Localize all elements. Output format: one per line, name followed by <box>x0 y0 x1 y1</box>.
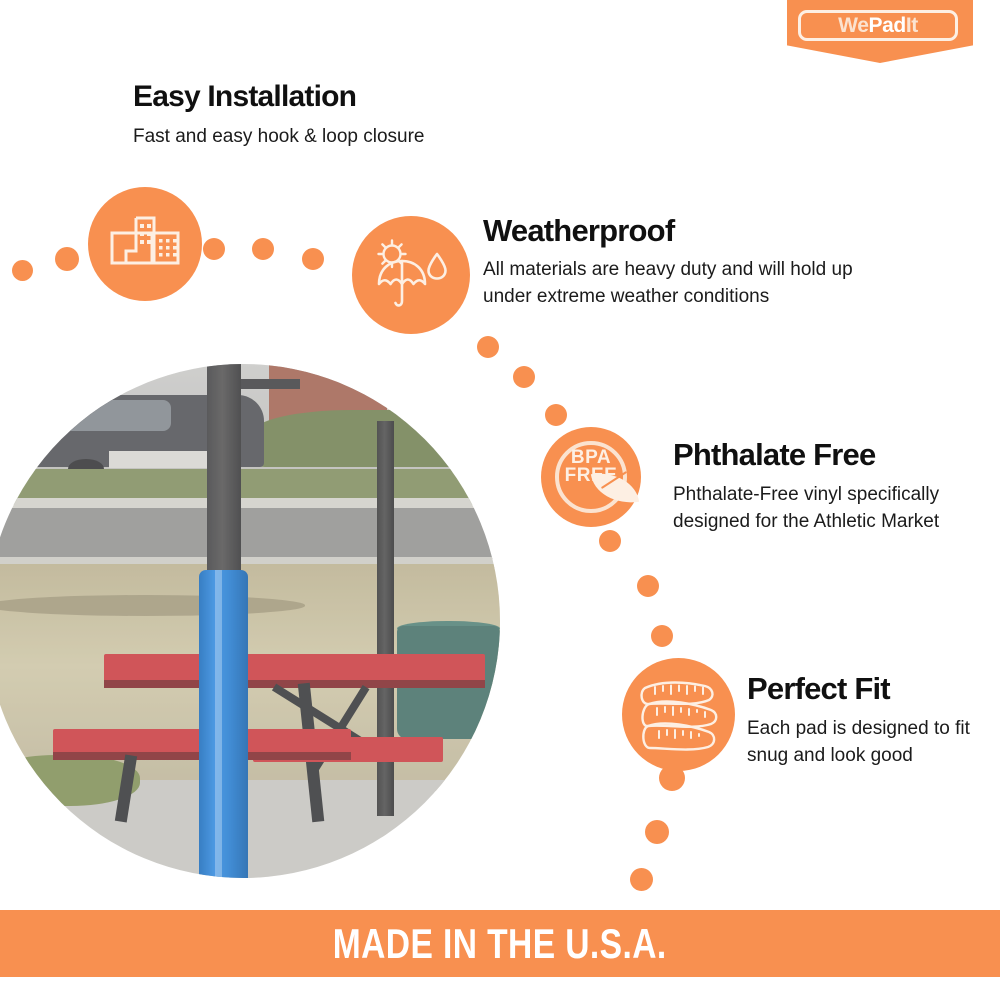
path-dot <box>513 366 535 388</box>
brand-logo-frame: WePadIt <box>798 10 958 41</box>
brand-logo-we: We <box>838 14 868 37</box>
section-body-phthalate-free: Phthalate-Free vinyl specifically design… <box>673 482 943 536</box>
made-in-usa-banner: MADE IN THE U.S.A. <box>0 910 1000 977</box>
path-dot <box>252 238 274 260</box>
path-dot <box>630 868 653 891</box>
path-dot <box>55 247 79 271</box>
path-dot <box>599 530 621 552</box>
path-dot <box>637 575 659 597</box>
path-dot <box>477 336 499 358</box>
brand-logo-text: WePadIt <box>838 15 918 36</box>
building-installation-icon <box>109 215 181 273</box>
icon-perfect-fit <box>622 658 735 771</box>
section-title-weatherproof: Weatherproof <box>483 214 674 248</box>
umbrella-sun-rain-icon <box>371 238 451 312</box>
bpa-free-icon: BPA FREE <box>541 449 641 485</box>
section-body-easy-installation: Fast and easy hook & loop closure <box>133 124 533 151</box>
path-dot <box>645 820 669 844</box>
section-body-weatherproof: All materials are heavy duty and will ho… <box>483 257 903 311</box>
path-dot <box>545 404 567 426</box>
product-photo-scene <box>0 364 500 878</box>
icon-building-installation <box>88 187 202 301</box>
section-body-perfect-fit: Each pad is designed to fit snug and loo… <box>747 716 987 770</box>
brand-logo-it: It <box>906 14 918 37</box>
path-dot <box>12 260 33 281</box>
brand-logo-badge: WePadIt <box>787 0 973 63</box>
path-dot <box>659 765 685 791</box>
measuring-tape-icon <box>635 674 723 756</box>
brand-logo-pad: Pad <box>868 14 905 37</box>
path-dot <box>651 625 673 647</box>
section-title-phthalate-free: Phthalate Free <box>673 438 875 472</box>
infographic-page: WePadIt Easy Installation Fast and easy … <box>0 0 1000 987</box>
section-title-perfect-fit: Perfect Fit <box>747 672 890 706</box>
product-photo <box>0 364 500 878</box>
path-dot <box>203 238 225 260</box>
icon-phthalate-free: BPA FREE <box>541 427 641 527</box>
path-dot <box>302 248 324 270</box>
icon-weatherproof <box>352 216 470 334</box>
made-in-usa-text: MADE IN THE U.S.A. <box>333 920 667 968</box>
section-title-easy-installation: Easy Installation <box>133 80 356 113</box>
